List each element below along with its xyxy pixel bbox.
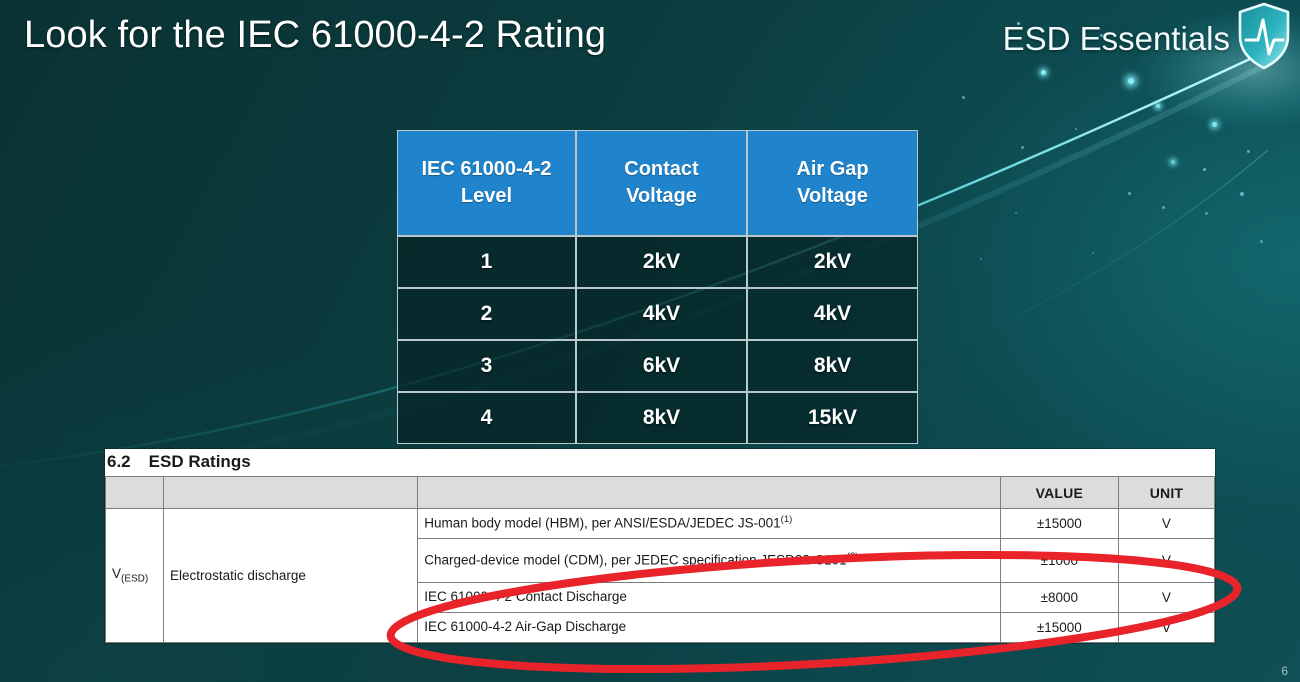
header-unit: UNIT	[1118, 477, 1214, 509]
value-cell: ±15000	[1000, 509, 1118, 539]
unit-cell: V	[1118, 539, 1214, 583]
footnote-marker: (1)	[781, 514, 793, 525]
header-blank-description	[418, 477, 1001, 509]
iec-cell-level: 2	[397, 288, 576, 340]
iec-cell-contact: 4kV	[576, 288, 747, 340]
iec-cell-level: 3	[397, 340, 576, 392]
header-blank-parameter	[164, 477, 418, 509]
description-text: Charged-device model (CDM), per JEDEC sp…	[424, 553, 846, 568]
page-title: Look for the IEC 61000-4-2 Rating	[24, 14, 606, 57]
header-value: VALUE	[1000, 477, 1118, 509]
unit-cell: V	[1118, 613, 1214, 643]
value-cell: ±8000	[1000, 583, 1118, 613]
iec-header-contact-line1: Contact	[624, 158, 698, 180]
iec-cell-airgap: 15kV	[747, 392, 918, 444]
iec-table-header-row: IEC 61000-4-2 Level Contact Voltage Air …	[397, 130, 918, 236]
iec-cell-level: 1	[397, 236, 576, 288]
symbol-subscript: (ESD)	[121, 574, 148, 585]
iec-header-contact: Contact Voltage	[576, 130, 747, 236]
header-blank-symbol	[106, 477, 164, 509]
iec-cell-contact: 2kV	[576, 236, 747, 288]
table-row: 4 8kV 15kV	[397, 392, 918, 444]
brand-logo: ESD Essentials	[1003, 8, 1292, 70]
iec-header-level-line1: IEC 61000-4-2	[421, 158, 551, 180]
iec-cell-level: 4	[397, 392, 576, 444]
footnote-marker: (2)	[847, 551, 859, 562]
section-title: ESD Ratings	[149, 452, 251, 471]
iec-header-level-line2: Level	[461, 185, 512, 207]
table-row: 1 2kV 2kV	[397, 236, 918, 288]
table-row: 3 6kV 8kV	[397, 340, 918, 392]
value-cell: ±15000	[1000, 613, 1118, 643]
parameter-cell: Electrostatic discharge	[164, 509, 418, 643]
iec-cell-airgap: 4kV	[747, 288, 918, 340]
page-number: 6	[1281, 664, 1288, 678]
unit-cell: V	[1118, 509, 1214, 539]
description-cell: Human body model (HBM), per ANSI/ESDA/JE…	[418, 509, 1001, 539]
iec-cell-contact: 8kV	[576, 392, 747, 444]
iec-level-table: IEC 61000-4-2 Level Contact Voltage Air …	[397, 130, 918, 444]
brand-name: ESD Essentials	[1003, 20, 1230, 58]
value-cell: ±1000	[1000, 539, 1118, 583]
datasheet-section-heading: 6.2ESD Ratings	[105, 449, 1215, 476]
description-cell: IEC 61000-4-2 Air-Gap Discharge	[418, 613, 1001, 643]
iec-header-level: IEC 61000-4-2 Level	[397, 130, 576, 236]
datasheet-excerpt: 6.2ESD Ratings VALUE UNIT V(ESD)	[105, 449, 1215, 643]
description-cell: IEC 61000-4-2 Contact Discharge	[418, 583, 1001, 613]
symbol-cell: V(ESD)	[106, 509, 164, 643]
table-header-row: VALUE UNIT	[106, 477, 1215, 509]
iec-header-airgap: Air Gap Voltage	[747, 130, 918, 236]
iec-cell-airgap: 2kV	[747, 236, 918, 288]
symbol-text: V	[112, 566, 121, 581]
description-cell: Charged-device model (CDM), per JEDEC sp…	[418, 539, 1001, 583]
iec-header-airgap-line2: Voltage	[797, 185, 868, 207]
slide-canvas: Look for the IEC 61000-4-2 Rating ESD Es…	[0, 0, 1300, 682]
esd-ratings-table: VALUE UNIT V(ESD) Electrostatic discharg…	[105, 476, 1215, 643]
section-number: 6.2	[107, 452, 131, 471]
description-text: Human body model (HBM), per ANSI/ESDA/JE…	[424, 516, 780, 531]
iec-cell-contact: 6kV	[576, 340, 747, 392]
unit-cell: V	[1118, 583, 1214, 613]
table-row: 2 4kV 4kV	[397, 288, 918, 340]
table-row: V(ESD) Electrostatic discharge Human bod…	[106, 509, 1215, 539]
iec-header-contact-line2: Voltage	[626, 185, 697, 207]
iec-header-airgap-line1: Air Gap	[796, 158, 868, 180]
iec-cell-airgap: 8kV	[747, 340, 918, 392]
shield-pulse-icon	[1236, 2, 1292, 70]
